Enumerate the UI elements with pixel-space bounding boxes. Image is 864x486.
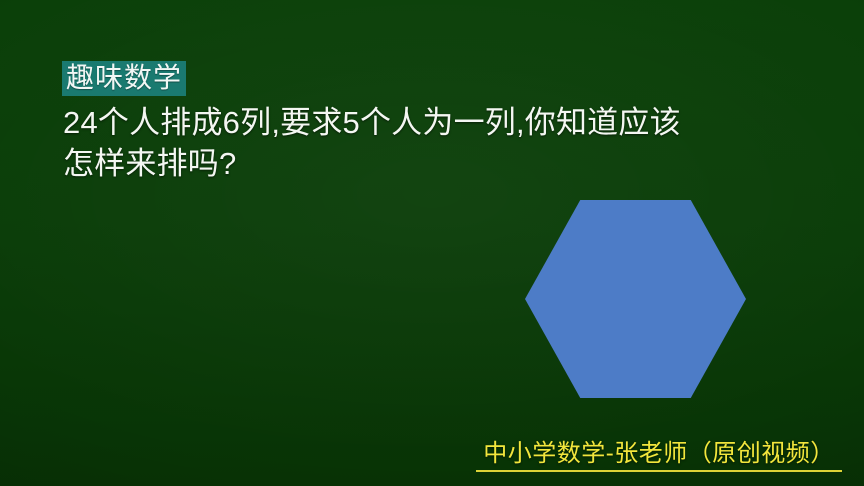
- page-title: 趣味数学: [62, 61, 186, 96]
- watermark: 中小学数学-张老师（原创视频）: [476, 440, 842, 472]
- question-line-1: 24个人排成6列,要求5个人为一列,你知道应该: [63, 102, 823, 143]
- title-block: 趣味数学: [62, 61, 186, 96]
- watermark-underline: [476, 470, 842, 472]
- watermark-label: 中小学数学-张老师（原创视频）: [476, 440, 842, 468]
- hexagon-svg: [525, 199, 746, 399]
- question-text: 24个人排成6列,要求5个人为一列,你知道应该 怎样来排吗?: [63, 102, 823, 184]
- hexagon-shape: [525, 199, 746, 399]
- hexagon-polygon: [525, 200, 746, 398]
- slide-canvas: 趣味数学 24个人排成6列,要求5个人为一列,你知道应该 怎样来排吗? 中小学数…: [0, 0, 864, 486]
- question-line-2: 怎样来排吗?: [63, 143, 823, 184]
